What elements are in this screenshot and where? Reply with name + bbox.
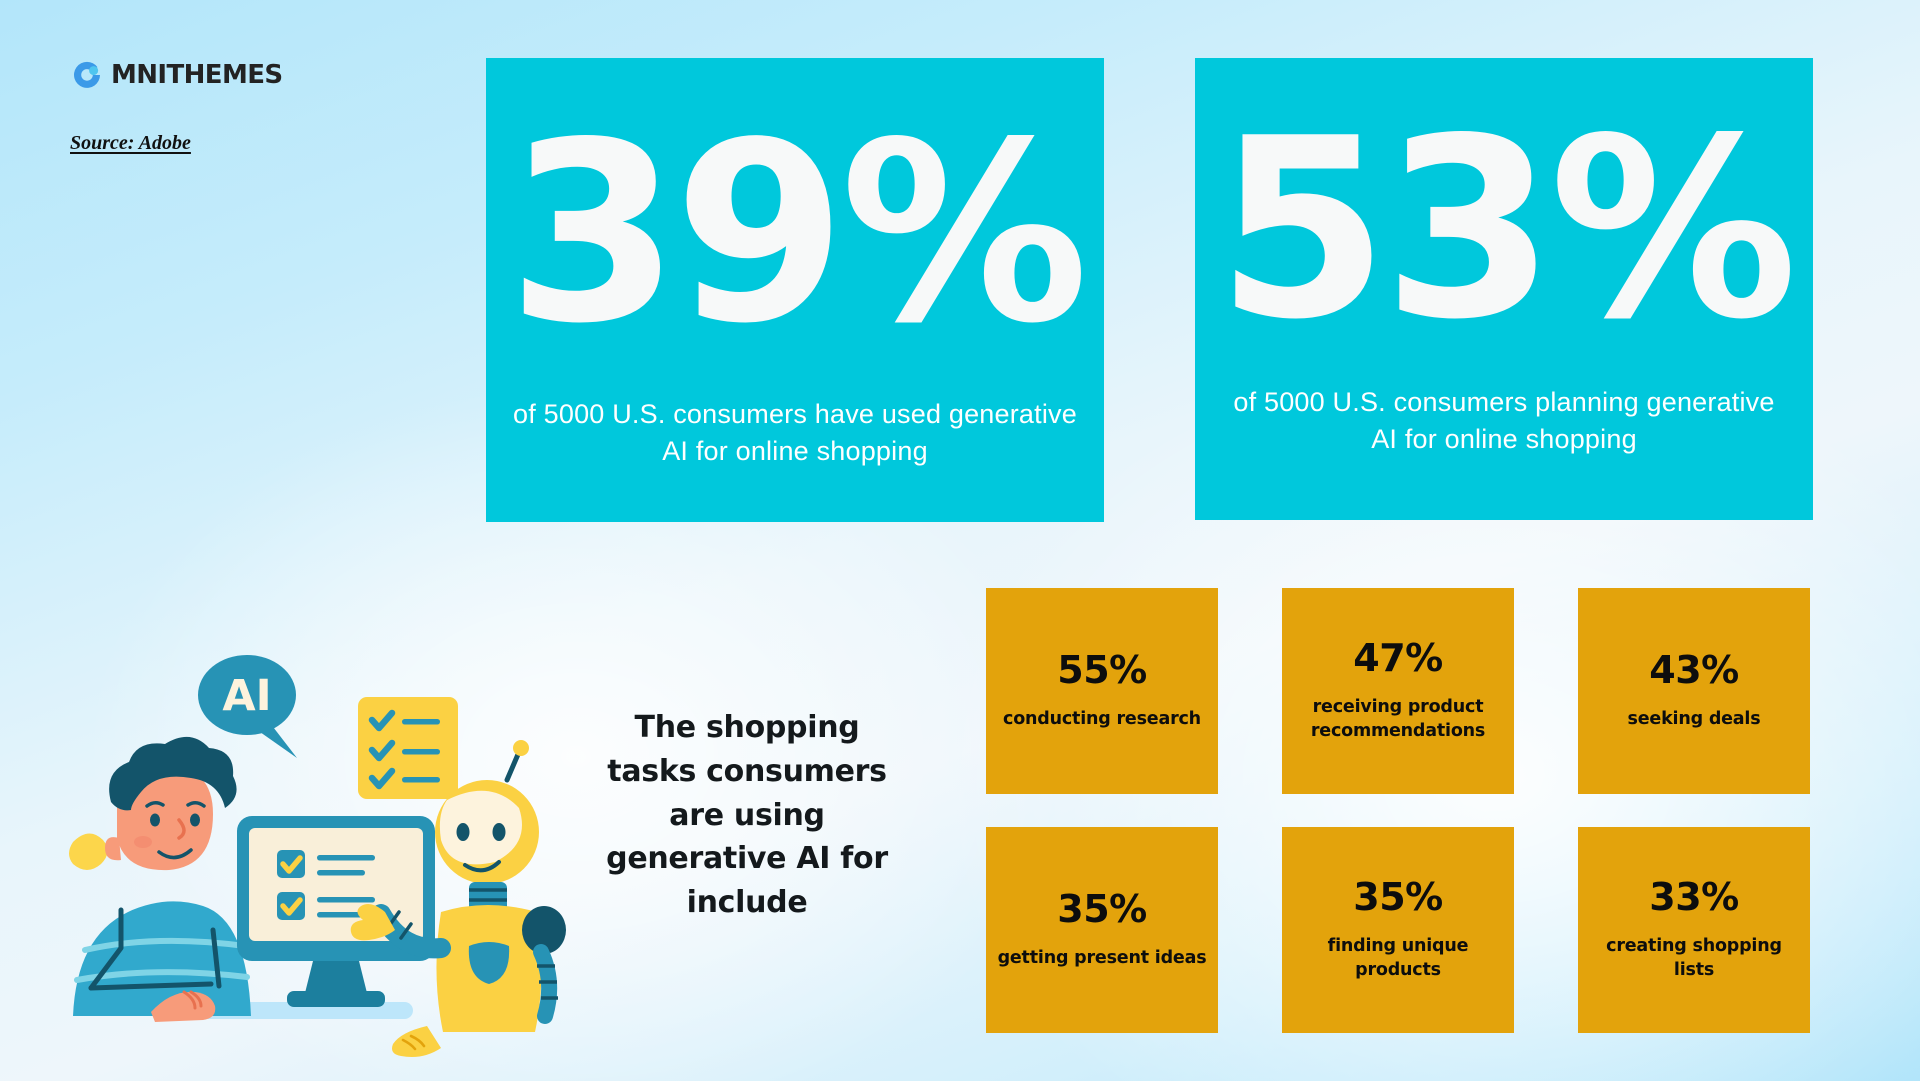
task-label: seeking deals: [1628, 707, 1761, 731]
task-card: 35% finding unique products: [1282, 827, 1514, 1033]
task-card: 55% conducting research: [986, 588, 1218, 794]
task-label: creating shopping lists: [1588, 934, 1800, 982]
omnithemes-c-mark-icon: [70, 58, 104, 92]
tasks-heading: The shopping tasks consumers are using g…: [592, 706, 902, 925]
brand-logo: MNITHEMES: [70, 58, 283, 92]
infographic-canvas: MNITHEMES Source: Adobe 39% of 5000 U.S.…: [0, 0, 1920, 1081]
ai-bubble-label: AI: [222, 671, 271, 721]
task-card: 47% receiving product recommendations: [1282, 588, 1514, 794]
source-label: Source: Adobe: [70, 132, 191, 155]
stat-block-planning: 53% of 5000 U.S. consumers planning gene…: [1195, 58, 1813, 520]
task-label: conducting research: [1003, 707, 1201, 731]
task-card-grid: 55% conducting research 47% receiving pr…: [986, 588, 1826, 1033]
task-label: getting present ideas: [998, 946, 1207, 970]
decor-blob-icon: [69, 833, 108, 870]
computer-monitor-icon: [237, 816, 435, 1007]
stat-caption: of 5000 U.S. consumers have used generat…: [486, 396, 1104, 471]
checklist-card-icon: [358, 697, 458, 799]
task-card: 35% getting present ideas: [986, 827, 1218, 1033]
ai-shopping-illustration: AI: [55, 620, 575, 1060]
task-percentage: 55%: [1057, 651, 1146, 689]
task-percentage: 35%: [1353, 878, 1442, 916]
stat-block-used: 39% of 5000 U.S. consumers have used gen…: [486, 58, 1104, 522]
task-percentage: 33%: [1649, 878, 1738, 916]
task-label: receiving product recommendations: [1292, 695, 1504, 743]
task-label: finding unique products: [1292, 934, 1504, 982]
task-percentage: 43%: [1649, 651, 1738, 689]
task-percentage: 47%: [1353, 639, 1442, 677]
stat-figure: 39%: [507, 110, 1083, 358]
task-percentage: 35%: [1057, 890, 1146, 928]
brand-name: MNITHEMES: [111, 62, 283, 88]
person-figure: [73, 737, 251, 1022]
task-card: 33% creating shopping lists: [1578, 827, 1810, 1033]
task-card: 43% seeking deals: [1578, 588, 1810, 794]
stat-figure: 53%: [1216, 106, 1792, 354]
stat-caption: of 5000 U.S. consumers planning generati…: [1195, 384, 1813, 459]
ai-speech-bubble-icon: AI: [198, 655, 297, 758]
